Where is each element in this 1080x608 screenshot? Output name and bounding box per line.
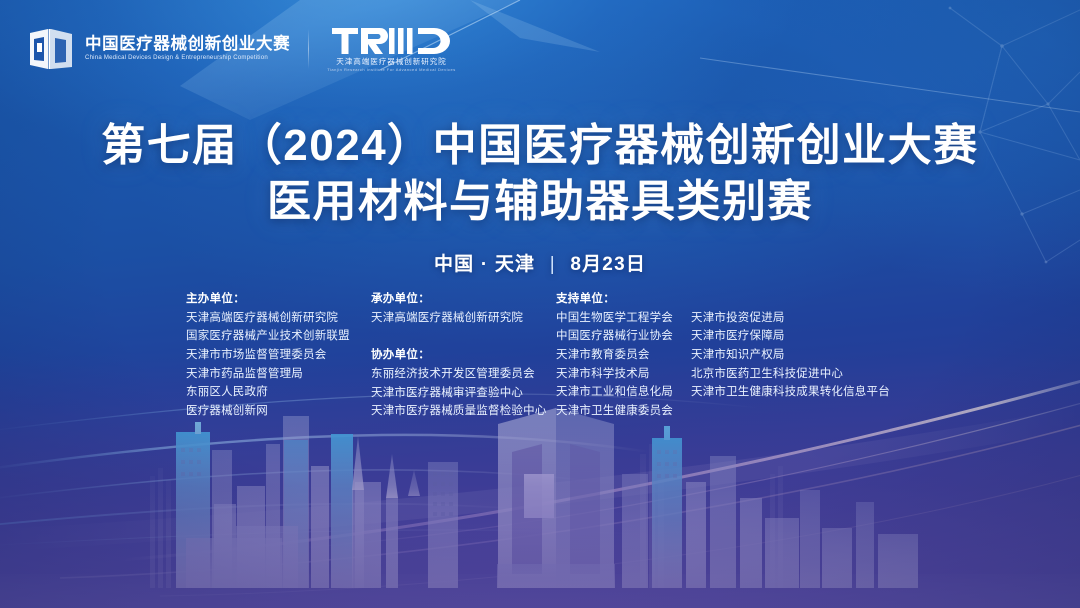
organizer-item: 天津市知识产权局 — [691, 346, 901, 365]
institute-logo: 天津高端医疗器械创新研究院 Tianjin Research Institute… — [327, 26, 456, 72]
organizer-item: 天津市投资促进局 — [691, 309, 901, 328]
competition-logo-en: China Medical Devices Design & Entrepren… — [85, 55, 286, 61]
open-book-building-logo-icon — [28, 27, 74, 71]
organizer-item: 东丽区人民政府 — [186, 383, 371, 402]
event-poster: 中国医疗器械创新创业大赛 China Medical Devices Desig… — [0, 0, 1080, 608]
organizer-item: 天津市医疗器械质量监督检验中心 — [371, 402, 556, 421]
header-logos: 中国医疗器械创新创业大赛 China Medical Devices Desig… — [28, 26, 456, 72]
title-line-1: 第七届（2024）中国医疗器械创新创业大赛 — [0, 118, 1080, 174]
organizer-group-heading: 承办单位： — [371, 290, 556, 309]
organizer-item: 天津市医疗保障局 — [691, 327, 901, 346]
organizer-item: 天津市卫生健康科技成果转化信息平台 — [691, 383, 901, 402]
institute-logo-cn: 天津高端医疗器械创新研究院 — [336, 58, 446, 66]
event-subtitle: 中国 · 天津 | 8月23日 — [0, 249, 1080, 276]
organizer-columns: 主办单位： 天津高端医疗器械创新研究院 国家医疗器械产业技术创新联盟 天津市市场… — [186, 290, 901, 421]
organizer-item: 天津高端医疗器械创新研究院 — [371, 309, 556, 328]
organizer-item: 国家医疗器械产业技术创新联盟 — [186, 327, 371, 346]
organizer-item: 医疗器械创新网 — [186, 402, 371, 421]
organizer-column-2: 承办单位： 天津高端医疗器械创新研究院 协办单位： 东丽经济技术开发区管理委员会… — [371, 290, 556, 421]
organizer-item: 天津市药品监督管理局 — [186, 365, 371, 384]
institute-logo-en: Tianjin Research Institute For Advanced … — [327, 68, 456, 72]
logo-divider — [308, 29, 309, 69]
competition-logo-cn: 中国医疗器械创新创业大赛 — [85, 36, 290, 53]
competition-logo: 中国医疗器械创新创业大赛 China Medical Devices Desig… — [28, 27, 290, 71]
organizer-group-heading: 支持单位： — [556, 290, 691, 309]
organizer-item: 东丽经济技术开发区管理委员会 — [371, 365, 556, 384]
organizer-item: 天津市工业和信息化局 — [556, 383, 691, 402]
organizer-column-4: 天津市投资促进局 天津市医疗保障局 天津市知识产权局 北京市医药卫生科技促进中心… — [691, 290, 901, 402]
subtitle-separator: | — [550, 254, 556, 276]
organizer-group: 承办单位： 天津高端医疗器械创新研究院 — [371, 290, 556, 327]
organizer-group: 协办单位： 东丽经济技术开发区管理委员会 天津市医疗器械审评查验中心 天津市医疗… — [371, 346, 556, 421]
trmd-wordmark-icon — [332, 26, 450, 56]
organizer-item: 天津高端医疗器械创新研究院 — [186, 309, 371, 328]
organizer-item: 中国生物医学工程学会 — [556, 309, 691, 328]
title-block: 第七届（2024）中国医疗器械创新创业大赛 医用材料与辅助器具类别赛 中国 · … — [0, 118, 1080, 276]
title-line-2: 医用材料与辅助器具类别赛 — [0, 174, 1080, 230]
event-location: 中国 · 天津 — [434, 254, 535, 275]
organizer-group-heading: 协办单位： — [371, 346, 556, 365]
organizer-group: 天津市投资促进局 天津市医疗保障局 天津市知识产权局 北京市医药卫生科技促进中心… — [691, 290, 901, 402]
organizer-item: 中国医疗器械行业协会 — [556, 327, 691, 346]
organizer-column-1: 主办单位： 天津高端医疗器械创新研究院 国家医疗器械产业技术创新联盟 天津市市场… — [186, 290, 371, 420]
organizer-item: 天津市医疗器械审评查验中心 — [371, 384, 556, 403]
organizer-group: 支持单位： 中国生物医学工程学会 中国医疗器械行业协会 天津市教育委员会 天津市… — [556, 290, 691, 420]
organizer-group-heading: 主办单位： — [186, 290, 371, 309]
organizer-item: 北京市医药卫生科技促进中心 — [691, 365, 901, 384]
organizer-item: 天津市科学技术局 — [556, 365, 691, 384]
organizer-item: 天津市市场监督管理委员会 — [186, 346, 371, 365]
organizer-item: 天津市卫生健康委员会 — [556, 402, 691, 421]
organizer-group: 主办单位： 天津高端医疗器械创新研究院 国家医疗器械产业技术创新联盟 天津市市场… — [186, 290, 371, 420]
organizer-item: 天津市教育委员会 — [556, 346, 691, 365]
event-date: 8月23日 — [570, 254, 646, 275]
organizer-column-3: 支持单位： 中国生物医学工程学会 中国医疗器械行业协会 天津市教育委员会 天津市… — [556, 290, 691, 420]
